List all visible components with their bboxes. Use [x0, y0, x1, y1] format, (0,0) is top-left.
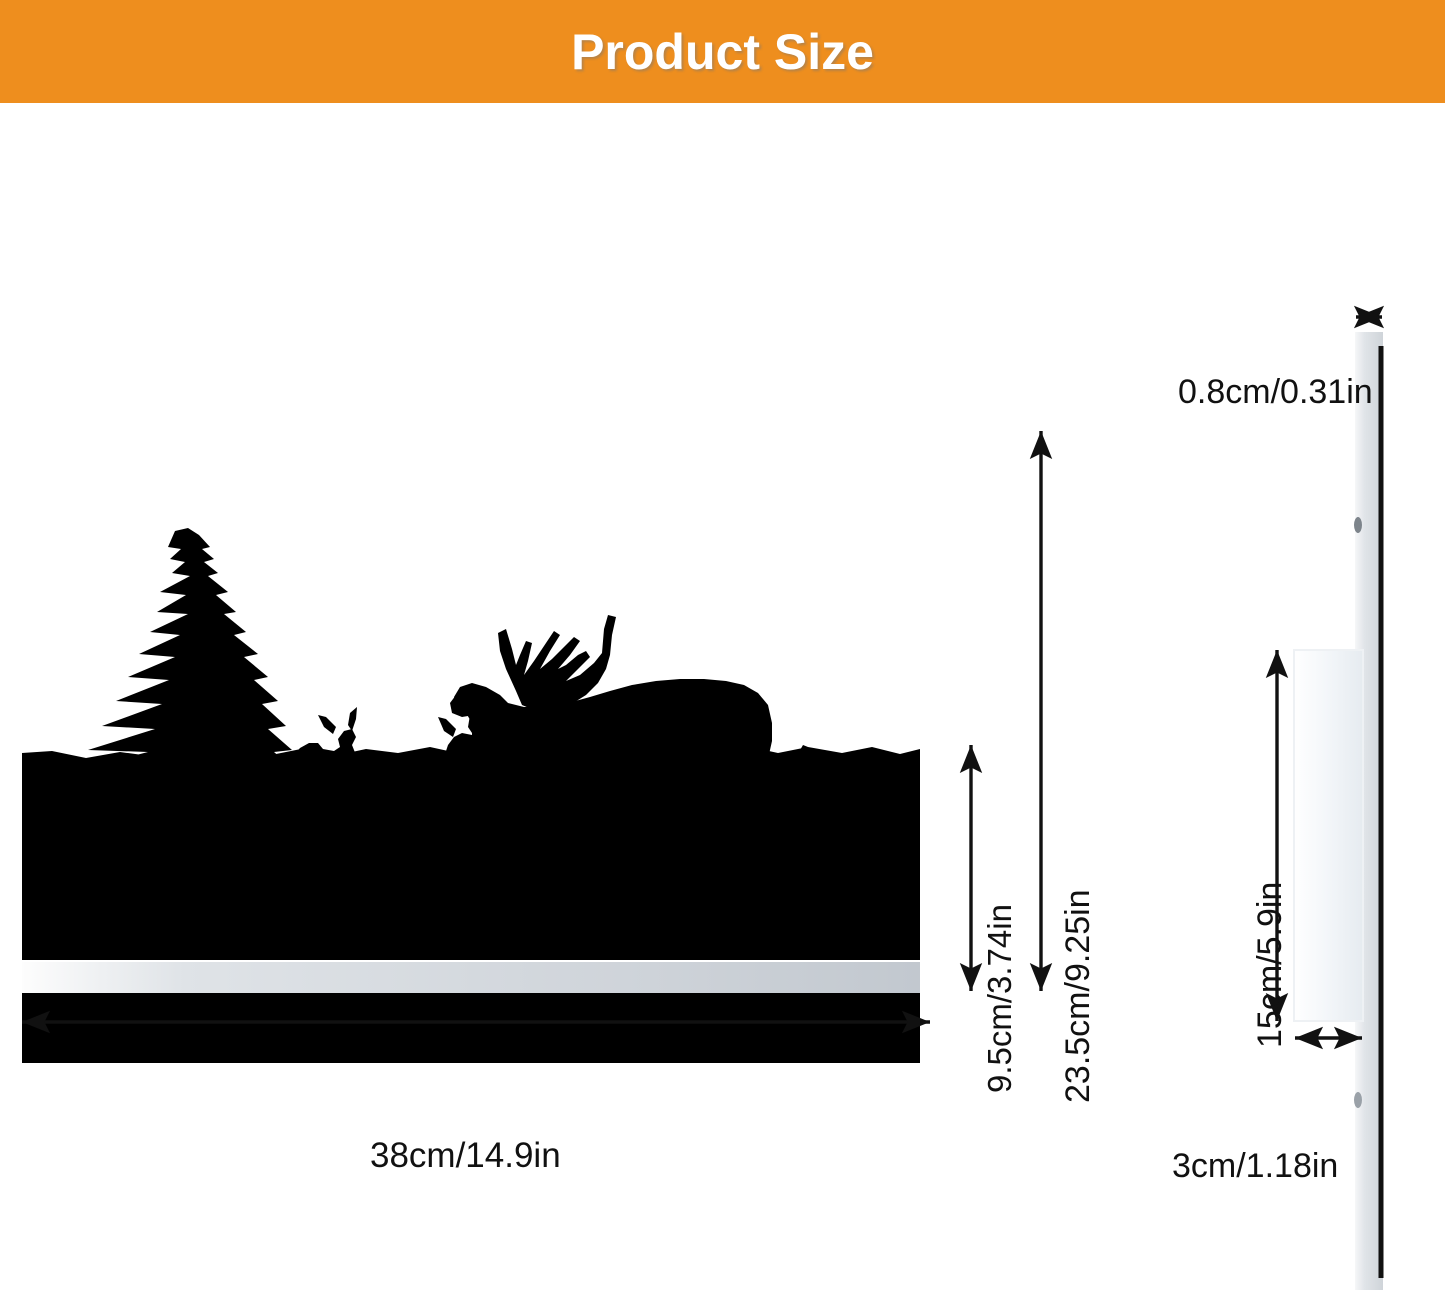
pine-tree-large: [44, 528, 296, 859]
product-size-page: Product Size: [0, 0, 1445, 1300]
base-mount-strip: [22, 960, 920, 993]
pine-tree-trunk: [166, 837, 183, 865]
side-plate-hole-lower: [1354, 1092, 1362, 1108]
product-diagram: 38cm/14.9in 23.5cm/9.25in 9.5cm/3.74in 0…: [0, 103, 1445, 1300]
label-thickness-0-8cm: 0.8cm/0.31in: [1178, 375, 1373, 409]
page-title: Product Size: [571, 27, 874, 77]
label-width-38cm: 38cm/14.9in: [370, 1138, 561, 1173]
label-bracket-height-15cm: 15cm/5.9in: [1253, 882, 1287, 1048]
label-total-height-23-5cm: 23.5cm/9.25in: [1061, 889, 1095, 1103]
diagram-svg: [0, 103, 1445, 1300]
side-plate-hole: [1354, 517, 1362, 533]
side-bracket: [1294, 650, 1363, 1021]
front-view-silhouette: [22, 528, 920, 1063]
header-banner: Product Size: [0, 0, 1445, 103]
label-panel-height-9-5cm: 9.5cm/3.74in: [983, 904, 1016, 1093]
label-bracket-width-3cm: 3cm/1.18in: [1172, 1149, 1338, 1183]
